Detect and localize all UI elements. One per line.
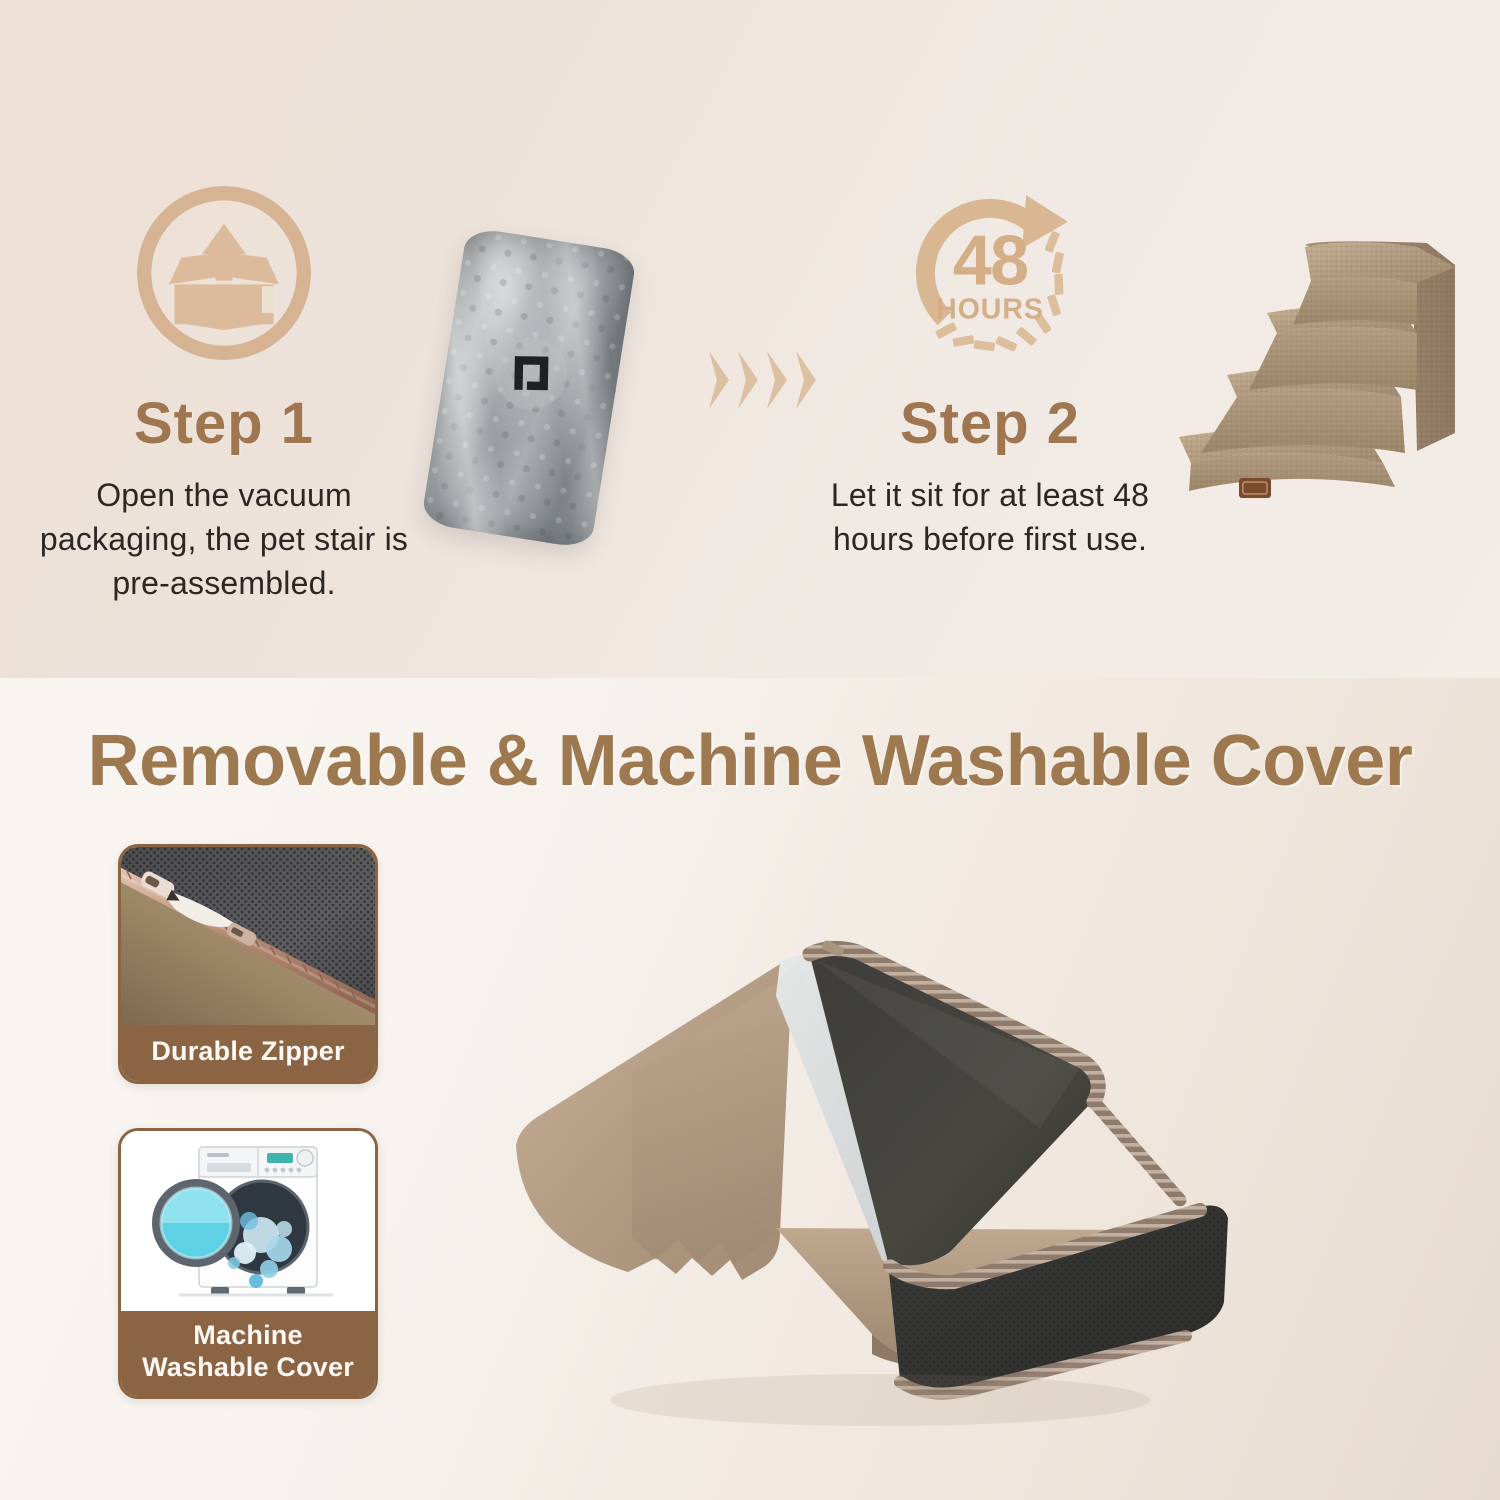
step-1-block: Step 1 Open the vacuum packaging, the pe…: [38, 178, 410, 605]
feature-card-durable-zipper: Durable Zipper: [118, 844, 378, 1084]
feature-card-label: Durable Zipper: [121, 1025, 375, 1081]
step-1-title: Step 1: [38, 390, 410, 457]
washing-machine-icon: [121, 1131, 375, 1311]
infographic-page: Step 1 Open the vacuum packaging, the pe…: [0, 0, 1500, 1500]
step-2-title: Step 2: [790, 390, 1190, 457]
washable-cover-section: Removable & Machine Washable Cover: [0, 678, 1500, 1500]
feature-card-machine-washable: Machine Washable Cover: [118, 1128, 378, 1399]
chevron-right-icon: [734, 349, 760, 411]
svg-text:HOURS: HOURS: [936, 294, 1044, 326]
feature-card-label: Machine Washable Cover: [121, 1311, 375, 1396]
vacuum-packed-roll-photo: [421, 226, 638, 549]
open-box-arrow-icon: [38, 178, 410, 368]
feature-card-label-line2: Washable Cover: [125, 1352, 371, 1384]
step-1-description: Open the vacuum packaging, the pet stair…: [38, 473, 410, 605]
zipper-closeup-photo: [121, 847, 375, 1025]
chevron-right-icon: [705, 349, 731, 411]
unzipped-pet-stair-photo: [480, 828, 1240, 1448]
step-2-block: 48 HOURS Step 2 Let it sit for at least …: [790, 178, 1190, 561]
chevron-right-icon: [763, 349, 789, 411]
svg-text:48: 48: [953, 220, 1027, 299]
feature-card-label-line1: Machine: [125, 1320, 371, 1352]
step-2-description: Let it sit for at least 48 hours before …: [790, 473, 1190, 561]
pet-stairs-photo: [1155, 225, 1475, 525]
page-title: Removable & Machine Washable Cover: [0, 720, 1500, 802]
steps-section: Step 1 Open the vacuum packaging, the pe…: [0, 0, 1500, 678]
48-hours-clock-icon: 48 HOURS: [790, 178, 1190, 368]
